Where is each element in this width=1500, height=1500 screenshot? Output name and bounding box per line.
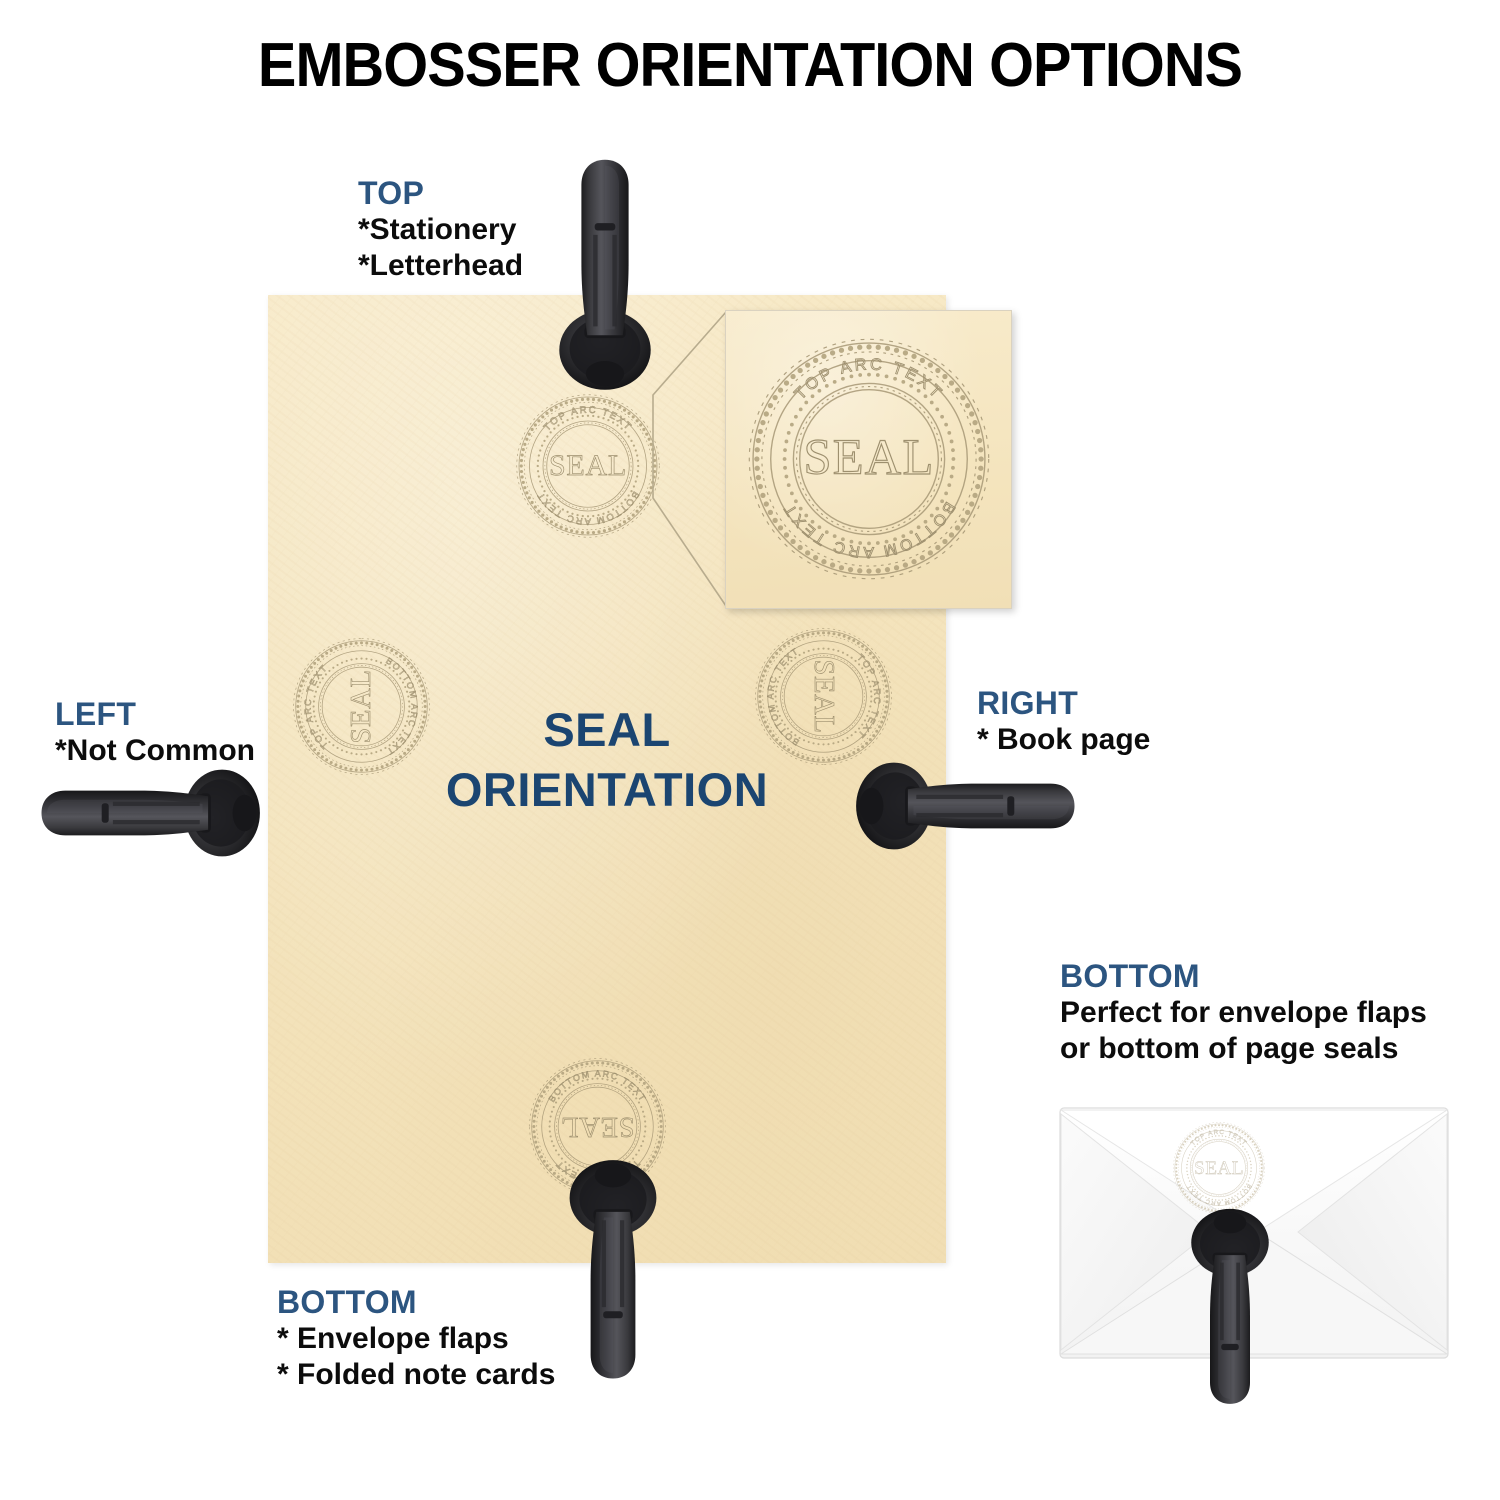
paper-center-label: SEAL ORIENTATION xyxy=(268,700,946,820)
callout-top-line-1: *Stationery xyxy=(358,212,523,249)
callout-bottom-paper-heading: BOTTOM xyxy=(277,1285,555,1321)
callout-top: TOP *Stationery *Letterhead xyxy=(358,176,523,285)
callout-bottom-envelope-line-1: Perfect for envelope flaps xyxy=(1060,995,1427,1032)
paper-label-line-2: ORIENTATION xyxy=(268,760,946,820)
callout-right: RIGHT * Book page xyxy=(977,686,1150,758)
callout-left-line-1: *Not Common xyxy=(55,733,255,770)
callout-left: LEFT *Not Common xyxy=(55,697,255,769)
page-title: EMBOSSER ORIENTATION OPTIONS xyxy=(53,30,1448,101)
callout-bottom-paper-line-2: * Folded note cards xyxy=(277,1357,555,1394)
callout-bottom-envelope-line-2: or bottom of page seals xyxy=(1060,1031,1427,1068)
seal-impression-magnified xyxy=(743,333,995,585)
embosser-tool-bottom[interactable] xyxy=(557,1148,669,1392)
embosser-tool-top[interactable] xyxy=(546,152,664,396)
embosser-tool-right[interactable] xyxy=(850,750,1082,862)
magnified-seal-inset xyxy=(725,310,1012,609)
callout-right-line-1: * Book page xyxy=(977,722,1150,759)
callout-top-line-2: *Letterhead xyxy=(358,248,523,285)
callout-bottom-envelope-heading: BOTTOM xyxy=(1060,959,1427,995)
embosser-tool-envelope[interactable] xyxy=(1180,1192,1280,1422)
callout-bottom-paper-line-1: * Envelope flaps xyxy=(277,1321,555,1358)
callout-right-heading: RIGHT xyxy=(977,686,1150,722)
callout-left-heading: LEFT xyxy=(55,697,255,733)
seal-impression-top xyxy=(513,391,663,541)
callout-bottom-paper: BOTTOM * Envelope flaps * Folded note ca… xyxy=(277,1285,555,1394)
callout-bottom-envelope: BOTTOM Perfect for envelope flaps or bot… xyxy=(1060,959,1427,1068)
paper-label-line-1: SEAL xyxy=(268,700,946,760)
callout-top-heading: TOP xyxy=(358,176,523,212)
embosser-tool-left[interactable] xyxy=(34,757,266,869)
